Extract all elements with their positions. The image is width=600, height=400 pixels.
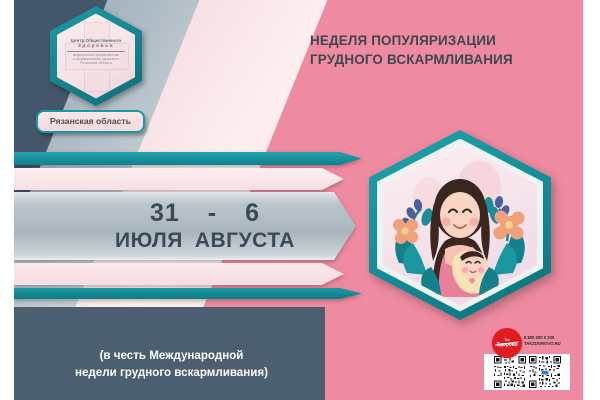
band-teal-bottom (14, 288, 362, 299)
takzdorovo-contact-info: 8 800 200 0 200 TAKZDOROVO.RU (524, 335, 561, 346)
takzdorovo-logo-icon: Так Здорово (492, 328, 522, 358)
qr-code-left-icon[interactable] (494, 356, 526, 388)
date-months-row: ИЮЛЯ АВГУСТА (75, 229, 295, 253)
logo-line-2: Здоровья (57, 44, 135, 50)
event-caption: (в честь Международной недели грудного в… (34, 348, 309, 382)
caption-line-2: недели грудного вскармливания) (34, 365, 309, 382)
day-start: 31 (150, 199, 180, 228)
date-dash: - (208, 199, 217, 228)
logo-divider (67, 51, 125, 52)
month-start: ИЮЛЯ (115, 229, 183, 253)
date-days-row: 31 - 6 (110, 199, 260, 228)
qr-code-card (484, 354, 570, 390)
right-margin (583, 0, 600, 400)
takzdorovo-block: Так Здорово 8 800 200 0 200 TAKZDOROVO.R… (484, 328, 570, 390)
region-label: Рязанская область (36, 110, 145, 133)
logo-line-1: Центр Общественного (57, 38, 135, 44)
month-end: АВГУСТА (195, 229, 295, 253)
band-pink-bottom (14, 263, 344, 285)
band-teal-top (14, 152, 362, 165)
organization-logo: Центр Общественного Здоровья медицинской… (50, 6, 142, 106)
page-title: НЕДЕЛЯ ПОПУЛЯРИЗАЦИИ ГРУДНОГО ВСКАРМЛИВА… (310, 32, 560, 69)
logo-text-block: Центр Общественного Здоровья медицинской… (57, 38, 135, 66)
band-pink-top (14, 168, 344, 190)
website-url: TAKZDOROVO.RU (524, 341, 561, 347)
date-banner: 31 - 6 ИЮЛЯ АВГУСТА (14, 192, 356, 260)
logo-line-5: Рязанской области (57, 61, 135, 65)
poster-canvas: Центр Общественного Здоровья медицинской… (14, 0, 583, 400)
title-line-2: ГРУДНОГО ВСКАРМЛИВАНИЯ (310, 51, 560, 70)
caption-line-1: (в честь Международной (34, 348, 309, 365)
title-line-1: НЕДЕЛЯ ПОПУЛЯРИЗАЦИИ (310, 32, 560, 51)
day-end: 6 (245, 199, 260, 228)
mother-and-baby-illustration (369, 130, 551, 320)
qr-code-right-icon[interactable] (529, 356, 561, 388)
